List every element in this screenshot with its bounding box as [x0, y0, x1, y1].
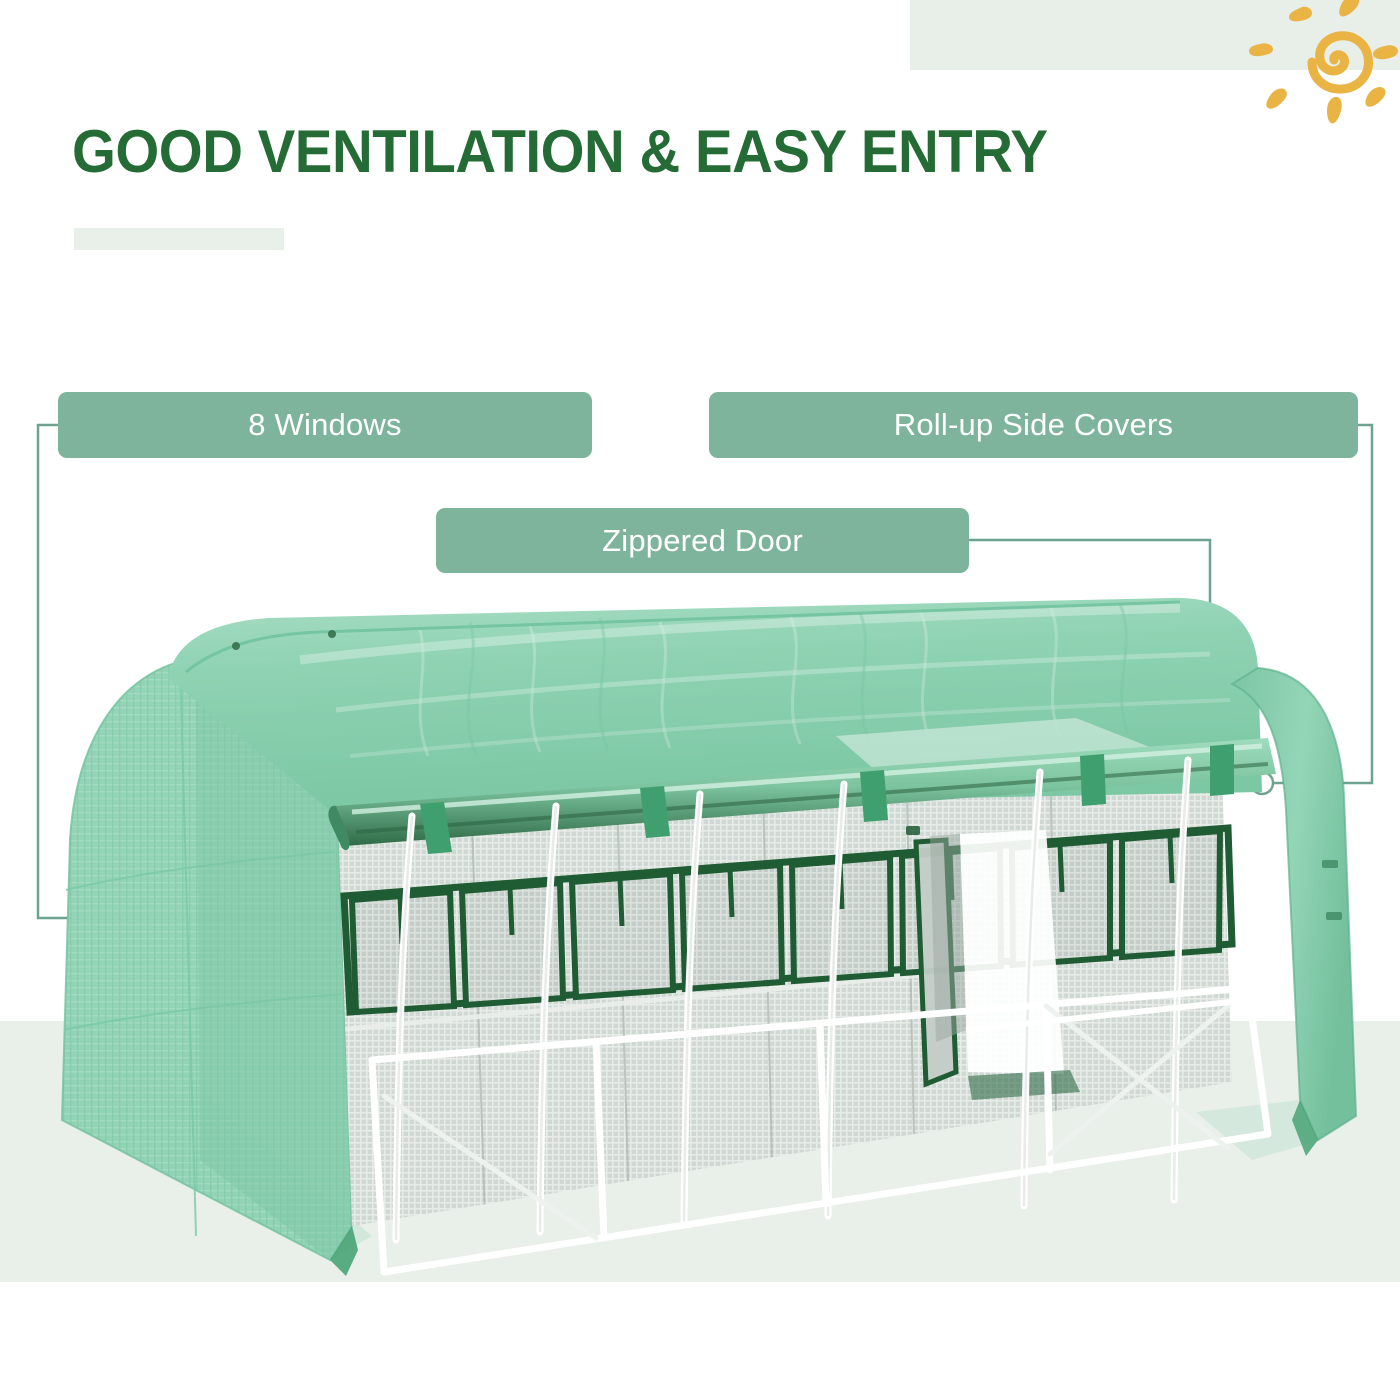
callout-roll-up-side-covers[interactable]: Roll-up Side Covers	[709, 392, 1358, 458]
callout-label: 8 Windows	[248, 407, 401, 443]
product-image-greenhouse	[0, 560, 1400, 1320]
callout-label: Roll-up Side Covers	[894, 407, 1173, 443]
callout-8-windows[interactable]: 8 Windows	[58, 392, 592, 458]
infographic-stage: GOOD VENTILATION & EASY ENTRY 8 Windows …	[0, 0, 1400, 1400]
callout-label: Zippered Door	[602, 523, 803, 559]
